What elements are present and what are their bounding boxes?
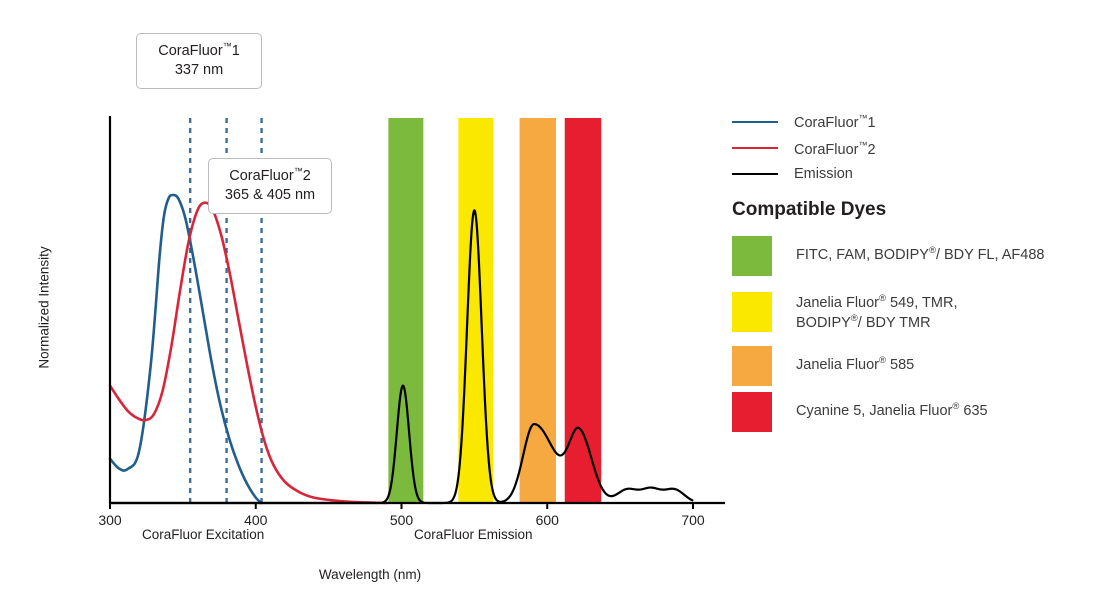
legend-item-1[interactable]: CoraFluor™1 [732,113,876,131]
dye-label: Cyanine 5, Janelia Fluor® 635 [796,392,988,421]
dye-item-3[interactable]: Janelia Fluor® 585 [732,346,914,386]
x-tick-label-700: 700 [672,512,714,528]
curve-corafluor1 [110,195,262,503]
dye-item-1[interactable]: FITC, FAM, BODIPY®/ BDY FL, AF488 [732,236,1044,276]
compatible-dyes-title: Compatible Dyes [732,199,886,221]
red-band [565,118,601,503]
callout-corafluor2-line1: CoraFluor™2 [229,168,311,184]
legend-swatch-line [732,121,778,123]
dye-color-swatch [732,346,772,386]
dye-color-swatch [732,392,772,432]
callout-corafluor2-line2: 365 & 405 nm [223,186,317,205]
x-axis-title: Wavelength (nm) [0,567,740,582]
x-tick-label-300: 300 [89,512,131,528]
legend-swatch-line [732,147,778,149]
callout-corafluor1-line2: 337 nm [151,61,247,80]
spectra-plot: Normalized Intensity Wavelength (nm) Cor… [0,0,740,612]
dye-color-swatch [732,292,772,332]
green-band [388,118,423,503]
callout-corafluor1-line1: CoraFluor™1 [158,43,240,59]
legend-item-2[interactable]: CoraFluor™2 [732,140,876,158]
dye-color-swatch [732,236,772,276]
dye-item-2[interactable]: Janelia Fluor® 549, TMR,BODIPY®/ BDY TMR [732,292,957,334]
figure-root: Normalized Intensity Wavelength (nm) Cor… [0,0,1110,612]
excitation-region-label: CoraFluor Excitation [142,527,264,542]
x-tick-label-400: 400 [235,512,277,528]
legend-label: Emission [794,166,853,182]
dye-label: Janelia Fluor® 549, TMR,BODIPY®/ BDY TMR [796,292,957,334]
emission-region-label: CoraFluor Emission [414,527,533,542]
callout-corafluor1: CoraFluor™1 337 nm [136,33,262,89]
x-tick-label-600: 600 [526,512,568,528]
dye-label: FITC, FAM, BODIPY®/ BDY FL, AF488 [796,236,1044,265]
callout-corafluor2: CoraFluor™2 365 & 405 nm [208,158,332,214]
legend-label: CoraFluor™1 [794,113,876,131]
x-tick-label-500: 500 [381,512,423,528]
legend-item-3[interactable]: Emission [732,166,853,182]
y-axis-title: Normalized Intensity [37,228,52,388]
side-panel: CoraFluor™1CoraFluor™2Emission Compatibl… [730,0,1110,612]
legend-swatch-line [732,173,778,175]
legend-label: CoraFluor™2 [794,140,876,158]
dye-item-4[interactable]: Cyanine 5, Janelia Fluor® 635 [732,392,988,432]
dye-label: Janelia Fluor® 585 [796,346,914,375]
